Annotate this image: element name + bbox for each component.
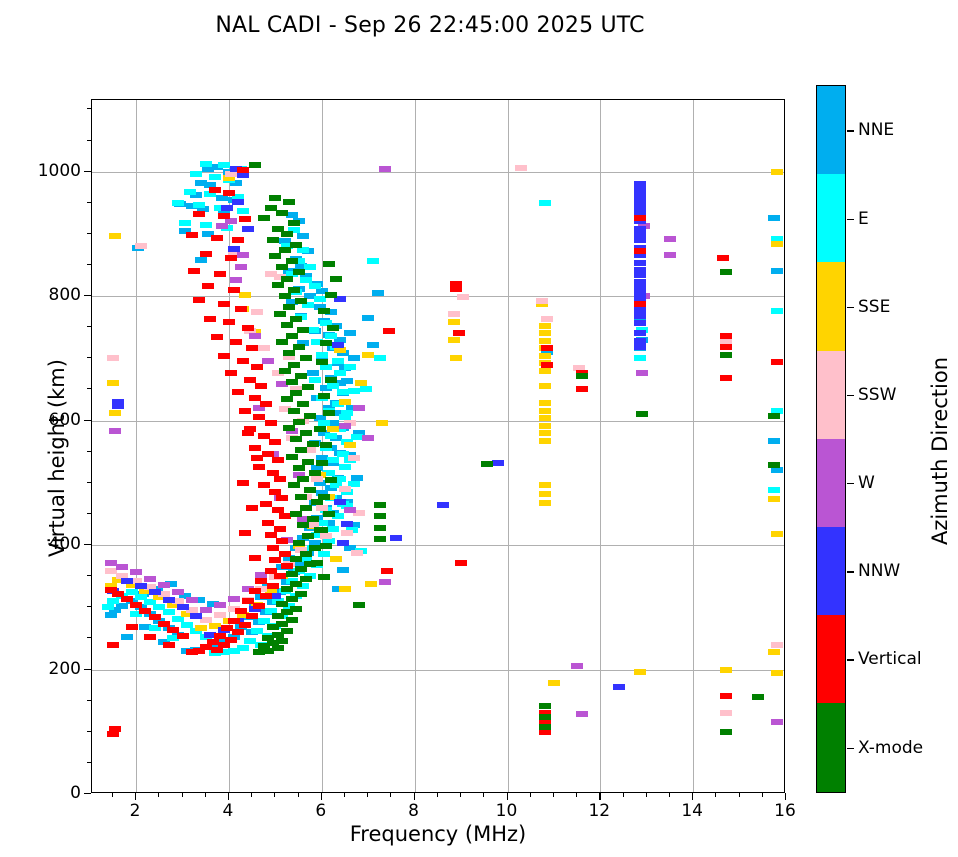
x-tick-major xyxy=(785,793,786,800)
x-tick-label: 12 xyxy=(588,801,610,821)
x-tick-minor xyxy=(390,793,391,797)
echo-marker-x-mode xyxy=(330,276,342,282)
echo-marker-sse xyxy=(539,330,551,336)
echo-marker-x-mode xyxy=(293,419,305,425)
x-tick-minor xyxy=(530,793,531,797)
echo-marker-e xyxy=(181,622,193,628)
echo-marker-x-mode xyxy=(752,694,764,700)
echo-marker-x-mode xyxy=(720,269,732,275)
echo-marker-x-mode xyxy=(283,199,295,205)
echo-marker-vertical xyxy=(576,386,588,392)
echo-marker-e xyxy=(107,598,119,604)
echo-marker-nnw xyxy=(332,342,344,348)
echo-marker-vertical xyxy=(279,551,291,557)
echo-marker-vertical xyxy=(242,430,254,436)
echo-marker-sse xyxy=(768,496,780,502)
colorbar-label-sse: SSE xyxy=(858,297,890,317)
echo-marker-x-mode xyxy=(300,430,312,436)
echo-marker-vertical xyxy=(214,271,226,277)
y-axis-title: Virtual height (km) xyxy=(45,308,69,608)
y-tick-minor xyxy=(87,140,91,141)
echo-marker-x-mode xyxy=(288,220,300,226)
echo-marker-vertical xyxy=(269,489,281,495)
echo-marker-w xyxy=(200,607,212,613)
echo-marker-sse xyxy=(539,415,551,421)
echo-marker-x-mode xyxy=(318,494,330,500)
echo-marker-sse xyxy=(634,669,646,675)
echo-marker-nnw xyxy=(634,344,646,350)
echo-marker-vertical xyxy=(281,563,293,569)
echo-marker-e xyxy=(237,208,249,214)
echo-marker-w xyxy=(379,166,391,172)
echo-marker-x-mode xyxy=(267,624,279,630)
y-tick-major xyxy=(84,171,91,172)
echo-marker-e xyxy=(327,383,339,389)
echo-marker-vertical xyxy=(246,613,258,619)
y-tick-major xyxy=(84,793,91,794)
echo-marker-x-mode xyxy=(293,269,305,275)
echo-marker-nnw xyxy=(177,604,189,610)
echo-marker-ssw xyxy=(341,530,353,536)
echo-marker-sse xyxy=(365,581,377,587)
echo-marker-ssw xyxy=(541,316,553,322)
echo-marker-e xyxy=(325,433,337,439)
echo-marker-sse xyxy=(771,169,783,175)
echo-marker-e xyxy=(193,202,205,208)
echo-marker-e xyxy=(332,358,344,364)
x-tick-minor xyxy=(158,793,159,797)
x-tick-minor xyxy=(274,793,275,797)
x-tick-minor xyxy=(298,793,299,797)
echo-marker-x-mode xyxy=(374,502,386,508)
echo-marker-vertical xyxy=(237,480,249,486)
echo-marker-sse xyxy=(109,410,121,416)
echo-marker-vertical xyxy=(253,603,265,609)
echo-marker-vertical xyxy=(258,433,270,439)
echo-marker-vertical xyxy=(230,339,242,345)
echo-marker-w xyxy=(109,428,121,434)
echo-marker-sse xyxy=(539,400,551,406)
echo-marker-ssw xyxy=(448,311,460,317)
echo-marker-vertical xyxy=(126,624,138,630)
echo-marker-vertical xyxy=(209,187,221,193)
echo-marker-nnw xyxy=(390,535,402,541)
echo-marker-ssw xyxy=(320,533,332,539)
echo-marker-w xyxy=(105,560,117,566)
echo-marker-x-mode xyxy=(297,401,309,407)
echo-marker-vertical xyxy=(267,470,279,476)
echo-marker-vertical xyxy=(202,283,214,289)
echo-marker-x-mode xyxy=(286,571,298,577)
echo-marker-vertical xyxy=(269,557,281,563)
x-tick-minor xyxy=(762,793,763,797)
echo-marker-e xyxy=(327,457,339,463)
echo-marker-vertical xyxy=(211,334,223,340)
echo-marker-x-mode xyxy=(272,613,284,619)
echo-marker-x-mode xyxy=(314,426,326,432)
y-tick-minor xyxy=(87,451,91,452)
echo-marker-vertical xyxy=(218,213,230,219)
colorbar-label-vertical: Vertical xyxy=(858,649,922,669)
colorbar-label-e: E xyxy=(858,209,869,229)
echo-marker-sse xyxy=(548,680,560,686)
echo-marker-x-mode xyxy=(374,513,386,519)
colorbar-tick xyxy=(847,307,854,308)
echo-marker-x-mode xyxy=(269,195,281,201)
echo-marker-vertical xyxy=(265,532,277,538)
echo-marker-vertical xyxy=(228,618,240,624)
echo-marker-vertical xyxy=(265,420,277,426)
echo-marker-vertical xyxy=(249,555,261,561)
x-tick-label: 4 xyxy=(222,801,233,821)
echo-marker-e xyxy=(348,388,360,394)
echo-marker-ssw xyxy=(311,476,323,482)
x-tick-label: 14 xyxy=(681,801,703,821)
echo-marker-vertical xyxy=(450,286,462,292)
echo-marker-vertical xyxy=(107,731,119,737)
echo-marker-e xyxy=(304,264,316,270)
echo-marker-e xyxy=(539,200,551,206)
echo-marker-x-mode xyxy=(316,527,328,533)
x-tick-minor xyxy=(344,793,345,797)
echo-marker-sse xyxy=(539,338,551,344)
echo-marker-nne xyxy=(768,438,780,444)
x-tick-label: 16 xyxy=(774,801,796,821)
echo-marker-sse xyxy=(339,586,351,592)
echo-marker-x-mode xyxy=(297,476,309,482)
echo-marker-sse xyxy=(107,380,119,386)
echo-marker-e xyxy=(172,200,184,206)
echo-marker-nnw xyxy=(634,237,646,243)
x-tick-minor xyxy=(669,793,670,797)
echo-marker-sse xyxy=(768,649,780,655)
y-tick-minor xyxy=(87,202,91,203)
y-tick-minor xyxy=(87,264,91,265)
x-tick-major xyxy=(692,793,693,800)
x-tick-label: 2 xyxy=(130,801,141,821)
echo-marker-nnw xyxy=(634,313,646,319)
echo-marker-vertical xyxy=(269,439,281,445)
echo-marker-x-mode xyxy=(274,311,286,317)
colorbar-tick xyxy=(847,659,854,660)
x-tick-minor xyxy=(205,793,206,797)
echo-marker-x-mode xyxy=(323,511,335,517)
echo-marker-vertical xyxy=(255,578,267,584)
y-tick-minor xyxy=(87,482,91,483)
x-tick-minor xyxy=(483,793,484,797)
echo-marker-e xyxy=(341,410,353,416)
echo-marker-vertical xyxy=(251,364,263,370)
echo-marker-nne xyxy=(351,475,363,481)
echo-marker-nne xyxy=(771,268,783,274)
echo-marker-x-mode xyxy=(309,470,321,476)
echo-marker-w xyxy=(379,579,391,585)
x-tick-major xyxy=(135,793,136,800)
echo-marker-nnw xyxy=(634,260,646,266)
echo-marker-vertical xyxy=(211,647,223,653)
echo-marker-x-mode xyxy=(290,390,302,396)
echo-marker-x-mode xyxy=(320,340,332,346)
echo-marker-e xyxy=(337,389,349,395)
echo-marker-vertical xyxy=(455,560,467,566)
echo-marker-x-mode xyxy=(539,724,551,730)
echo-marker-vertical xyxy=(228,287,240,293)
echo-marker-w xyxy=(771,719,783,725)
echo-marker-vertical xyxy=(249,395,261,401)
echo-marker-x-mode xyxy=(288,362,300,368)
echo-marker-vertical xyxy=(107,642,119,648)
echo-marker-x-mode xyxy=(318,393,330,399)
echo-marker-vertical xyxy=(255,383,267,389)
echo-marker-vertical xyxy=(235,306,247,312)
echo-marker-vertical xyxy=(276,495,288,501)
echo-marker-nne xyxy=(337,567,349,573)
echo-marker-e xyxy=(325,333,337,339)
echo-marker-vertical xyxy=(163,642,175,648)
echo-marker-vertical xyxy=(223,190,235,196)
echo-marker-e xyxy=(300,277,312,283)
echo-marker-w xyxy=(216,223,228,229)
echo-marker-vertical xyxy=(235,608,247,614)
echo-marker-w xyxy=(362,435,374,441)
echo-marker-x-mode xyxy=(374,536,386,542)
echo-marker-vertical xyxy=(634,301,646,307)
echo-marker-x-mode xyxy=(281,231,293,237)
echo-marker-vertical xyxy=(383,328,395,334)
echo-marker-x-mode xyxy=(300,505,312,511)
echo-marker-w xyxy=(344,507,356,513)
echo-marker-nne xyxy=(348,355,360,361)
colorbar-band-x-mode xyxy=(817,703,845,792)
echo-marker-e xyxy=(314,296,326,302)
echo-marker-nnw xyxy=(341,521,353,527)
echo-marker-ssw xyxy=(351,550,363,556)
echo-marker-vertical xyxy=(177,633,189,639)
colorbar-band-ssw xyxy=(817,351,845,440)
echo-marker-w xyxy=(636,370,648,376)
echo-marker-e xyxy=(360,386,372,392)
echo-marker-e xyxy=(367,258,379,264)
x-tick-minor xyxy=(437,793,438,797)
echo-marker-sse xyxy=(448,337,460,343)
echo-marker-sse xyxy=(109,233,121,239)
echo-marker-x-mode xyxy=(309,545,321,551)
echo-marker-vertical xyxy=(249,588,261,594)
echo-marker-vertical xyxy=(167,627,179,633)
echo-marker-vertical xyxy=(541,345,553,351)
x-tick-minor xyxy=(182,793,183,797)
echo-marker-vertical xyxy=(149,614,161,620)
echo-marker-e xyxy=(209,174,221,180)
echo-marker-x-mode xyxy=(307,441,319,447)
echo-marker-sse xyxy=(450,355,462,361)
echo-marker-sse xyxy=(539,430,551,436)
echo-marker-x-mode xyxy=(300,355,312,361)
echo-marker-sse xyxy=(539,482,551,488)
echo-marker-x-mode xyxy=(276,339,288,345)
echo-marker-vertical xyxy=(262,451,274,457)
echo-marker-sse xyxy=(344,442,356,448)
echo-marker-vertical xyxy=(239,530,251,536)
x-tick-major xyxy=(414,793,415,800)
echo-marker-vertical xyxy=(200,251,212,257)
echo-marker-vertical xyxy=(188,268,200,274)
echo-marker-x-mode xyxy=(720,352,732,358)
echo-marker-x-mode xyxy=(281,396,293,402)
echo-marker-nnw xyxy=(149,589,161,595)
echo-marker-ssw xyxy=(316,505,328,511)
y-tick-label: 0 xyxy=(1,783,81,803)
echo-marker-vertical xyxy=(274,573,286,579)
echo-marker-nnw xyxy=(190,613,202,619)
echo-marker-w xyxy=(237,252,249,258)
colorbar-label-x-mode: X-mode xyxy=(858,738,923,758)
echo-marker-x-mode xyxy=(576,373,588,379)
echo-marker-vertical xyxy=(237,167,249,173)
echo-marker-x-mode xyxy=(276,210,288,216)
echo-marker-x-mode xyxy=(288,287,300,293)
echo-marker-sse xyxy=(448,319,460,325)
echo-marker-x-mode xyxy=(283,304,295,310)
echo-marker-x-mode xyxy=(302,384,314,390)
echo-marker-vertical xyxy=(186,232,198,238)
echo-marker-vertical xyxy=(105,587,117,593)
echo-marker-nnw xyxy=(112,403,124,409)
echo-marker-nnw xyxy=(634,330,646,336)
y-tick-major xyxy=(84,295,91,296)
echo-marker-nne xyxy=(768,215,780,221)
echo-marker-w xyxy=(116,564,128,570)
echo-marker-vertical xyxy=(274,526,286,532)
colorbar-label-nnw: NNW xyxy=(858,561,900,581)
echo-marker-vertical xyxy=(221,625,233,631)
echo-marker-w xyxy=(172,589,184,595)
y-tick-major xyxy=(84,669,91,670)
echo-marker-w xyxy=(664,236,676,242)
echo-marker-nne xyxy=(344,330,356,336)
echo-marker-x-mode xyxy=(323,410,335,416)
echo-marker-x-mode xyxy=(307,516,319,522)
echo-marker-x-mode xyxy=(327,325,339,331)
echo-marker-sse xyxy=(539,500,551,506)
echo-marker-nnw xyxy=(634,307,646,313)
echo-marker-x-mode xyxy=(286,258,298,264)
echo-marker-x-mode xyxy=(636,411,648,417)
echo-marker-x-mode xyxy=(279,293,291,299)
echo-marker-e xyxy=(102,604,114,610)
echo-marker-sse xyxy=(720,667,732,673)
echo-marker-vertical xyxy=(771,359,783,365)
echo-marker-e xyxy=(258,618,270,624)
x-tick-label: 6 xyxy=(315,801,326,821)
echo-marker-x-mode xyxy=(539,714,551,720)
colorbar-tick xyxy=(847,483,854,484)
y-tick-label: 1000 xyxy=(1,161,81,181)
echo-marker-w xyxy=(214,602,226,608)
echo-marker-x-mode xyxy=(320,442,332,448)
colorbar-tick xyxy=(847,130,854,131)
colorbar-tick xyxy=(847,219,854,220)
echo-marker-vertical xyxy=(237,358,249,364)
echo-marker-x-mode xyxy=(265,205,277,211)
echo-marker-w xyxy=(249,333,261,339)
echo-marker-x-mode xyxy=(295,447,307,453)
echo-marker-sse xyxy=(771,531,783,537)
echo-marker-w xyxy=(339,423,351,429)
colorbar-band-nnw xyxy=(817,527,845,616)
echo-marker-nne xyxy=(362,315,374,321)
echo-marker-x-mode xyxy=(325,477,337,483)
echo-marker-vertical xyxy=(381,568,393,574)
echo-marker-ssw xyxy=(348,455,360,461)
echo-marker-vertical xyxy=(246,345,258,351)
echo-marker-nnw xyxy=(634,320,646,326)
x-tick-minor xyxy=(251,793,252,797)
echo-marker-e xyxy=(771,308,783,314)
echo-marker-vertical xyxy=(239,622,251,628)
echo-marker-ssw xyxy=(339,486,351,492)
echo-marker-e xyxy=(244,638,256,644)
echo-marker-x-mode xyxy=(720,729,732,735)
echo-marker-vertical xyxy=(204,316,216,322)
echo-marker-e xyxy=(309,283,321,289)
colorbar-tick xyxy=(847,571,854,572)
echo-marker-vertical xyxy=(267,583,279,589)
echo-marker-vertical xyxy=(214,633,226,639)
echo-marker-e xyxy=(200,222,212,228)
echo-marker-vertical xyxy=(186,649,198,655)
echo-marker-sse xyxy=(539,353,551,359)
echo-marker-nnw xyxy=(634,272,646,278)
echo-marker-ssw xyxy=(457,294,469,300)
echo-marker-e xyxy=(339,464,351,470)
echo-marker-x-mode xyxy=(286,333,298,339)
y-tick-minor xyxy=(87,513,91,514)
echo-marker-nnw xyxy=(121,578,133,584)
colorbar-label-w: W xyxy=(858,473,875,493)
colorbar-band-vertical xyxy=(817,615,845,704)
echo-marker-nne xyxy=(367,342,379,348)
echo-marker-x-mode xyxy=(318,308,330,314)
echo-marker-e xyxy=(190,171,202,177)
echo-marker-x-mode xyxy=(374,525,386,531)
y-tick-minor xyxy=(87,108,91,109)
echo-marker-x-mode xyxy=(304,413,316,419)
echo-marker-e xyxy=(374,355,386,361)
echo-marker-x-mode xyxy=(293,344,305,350)
y-tick-major xyxy=(84,420,91,421)
echo-marker-x-mode xyxy=(295,373,307,379)
x-axis-title: Frequency (MHz) xyxy=(91,822,785,846)
echo-marker-ssw xyxy=(771,642,783,648)
echo-marker-x-mode xyxy=(286,454,298,460)
echo-marker-x-mode xyxy=(290,511,302,517)
echo-marker-e xyxy=(337,451,349,457)
scatter-canvas xyxy=(92,100,784,792)
echo-marker-w xyxy=(664,252,676,258)
echo-marker-e xyxy=(184,189,196,195)
echo-marker-sse xyxy=(771,670,783,676)
echo-marker-w xyxy=(576,711,588,717)
echo-marker-nne xyxy=(105,612,117,618)
echo-marker-vertical xyxy=(262,520,274,526)
echo-marker-w xyxy=(144,576,156,582)
echo-marker-x-mode xyxy=(281,276,293,282)
x-tick-minor xyxy=(646,793,647,797)
x-tick-label: 8 xyxy=(408,801,419,821)
echo-marker-vertical xyxy=(260,501,272,507)
echo-marker-w xyxy=(230,277,242,283)
